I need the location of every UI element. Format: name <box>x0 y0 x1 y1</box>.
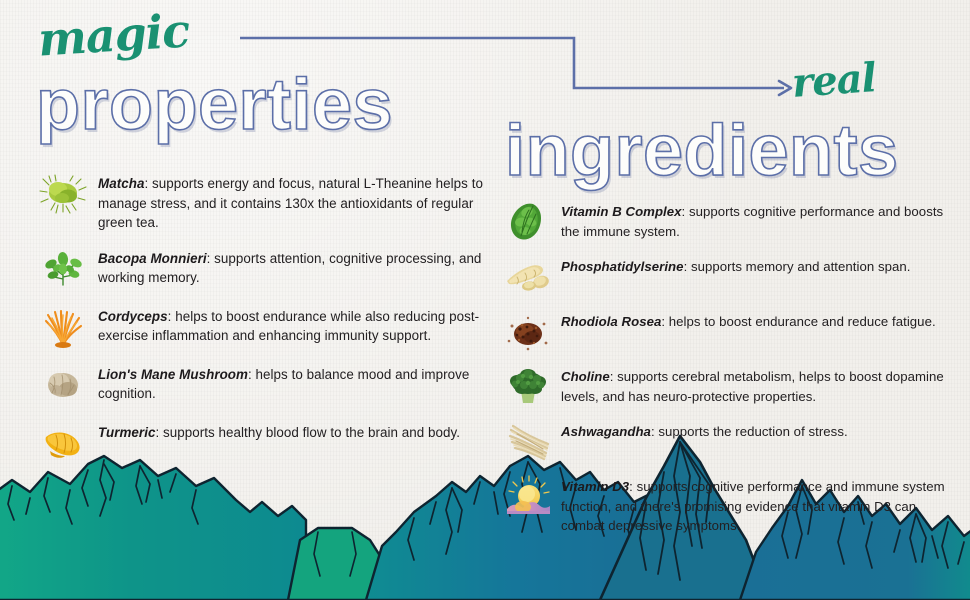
list-item-text: Vitamin D3: supports cognitive performan… <box>561 475 955 536</box>
magic-script-heading: magic <box>36 3 190 66</box>
list-item: Choline: supports cerebral metabolism, h… <box>503 365 955 409</box>
ingredient-name: Cordyceps <box>98 309 168 324</box>
list-item-text: Rhodiola Rosea: helps to boost endurance… <box>561 310 955 332</box>
list-item-text: Lion's Mane Mushroom: helps to balance m… <box>98 363 488 404</box>
ingredient-name: Matcha <box>98 176 144 191</box>
rhodiola-granules-icon <box>503 310 553 354</box>
ingredient-name: Turmeric <box>98 425 155 440</box>
ingredient-description: : helps to boost endurance and reduce fa… <box>661 314 935 329</box>
ashwagandha-root-icon <box>503 420 553 464</box>
ginger-root-icon <box>503 255 553 299</box>
list-item: Matcha: supports energy and focus, natur… <box>36 172 488 233</box>
ingredient-name: Vitamin B Complex <box>561 204 682 219</box>
ingredient-name: Bacopa Monnieri <box>98 251 207 266</box>
list-item-text: Choline: supports cerebral metabolism, h… <box>561 365 955 406</box>
ingredient-name: Lion's Mane Mushroom <box>98 367 248 382</box>
ingredient-description: : supports cerebral metabolism, helps to… <box>561 369 944 404</box>
list-item: Lion's Mane Mushroom: helps to balance m… <box>36 363 488 407</box>
list-item-text: Phosphatidylserine: supports memory and … <box>561 255 955 277</box>
list-item-text: Turmeric: supports healthy blood flow to… <box>98 421 488 443</box>
list-item: Bacopa Monnieri: supports attention, cog… <box>36 247 488 291</box>
turmeric-root-icon <box>36 421 90 465</box>
list-item: Rhodiola Rosea: helps to boost endurance… <box>503 310 955 354</box>
list-item-text: Ashwagandha: supports the reduction of s… <box>561 420 955 442</box>
properties-outline-heading: properties <box>36 64 393 146</box>
list-item: Ashwagandha: supports the reduction of s… <box>503 420 955 464</box>
ingredient-name: Vitamin D3 <box>561 479 629 494</box>
ingredient-description: : supports energy and focus, natural L-T… <box>98 176 483 230</box>
list-item: Vitamin B Complex: supports cognitive pe… <box>503 200 955 244</box>
sunrise-sun-icon <box>503 475 553 519</box>
ingredient-description: : supports healthy blood flow to the bra… <box>155 425 460 440</box>
list-item: Turmeric: supports healthy blood flow to… <box>36 421 488 465</box>
ingredient-description: : supports memory and attention span. <box>684 259 911 274</box>
list-item: Phosphatidylserine: supports memory and … <box>503 255 955 299</box>
real-ingredients-list: Vitamin B Complex: supports cognitive pe… <box>503 200 955 547</box>
ingredient-name: Rhodiola Rosea <box>561 314 661 329</box>
list-item-text: Matcha: supports energy and focus, natur… <box>98 172 488 233</box>
ingredients-outline-heading: ingredients <box>505 110 899 192</box>
leafy-greens-icon <box>503 200 553 244</box>
ingredient-description: : supports the reduction of stress. <box>651 424 848 439</box>
matcha-powder-icon <box>36 172 90 216</box>
magic-properties-list: Matcha: supports energy and focus, natur… <box>36 172 488 479</box>
list-item: Cordyceps: helps to boost endurance whil… <box>36 305 488 349</box>
list-item-text: Cordyceps: helps to boost endurance whil… <box>98 305 488 346</box>
lions-mane-mushroom-icon <box>36 363 90 407</box>
ingredient-name: Ashwagandha <box>561 424 651 439</box>
list-item: Vitamin D3: supports cognitive performan… <box>503 475 955 536</box>
list-item-text: Bacopa Monnieri: supports attention, cog… <box>98 247 488 288</box>
cordyceps-mushroom-icon <box>36 305 90 349</box>
ingredient-name: Phosphatidylserine <box>561 259 684 274</box>
ingredient-name: Choline <box>561 369 610 384</box>
infographic-poster: magic properties real ingredients <box>0 0 970 600</box>
real-script-heading: real <box>790 54 877 107</box>
list-item-text: Vitamin B Complex: supports cognitive pe… <box>561 200 955 241</box>
bacopa-leaves-icon <box>36 247 90 291</box>
broccoli-icon <box>503 365 553 409</box>
